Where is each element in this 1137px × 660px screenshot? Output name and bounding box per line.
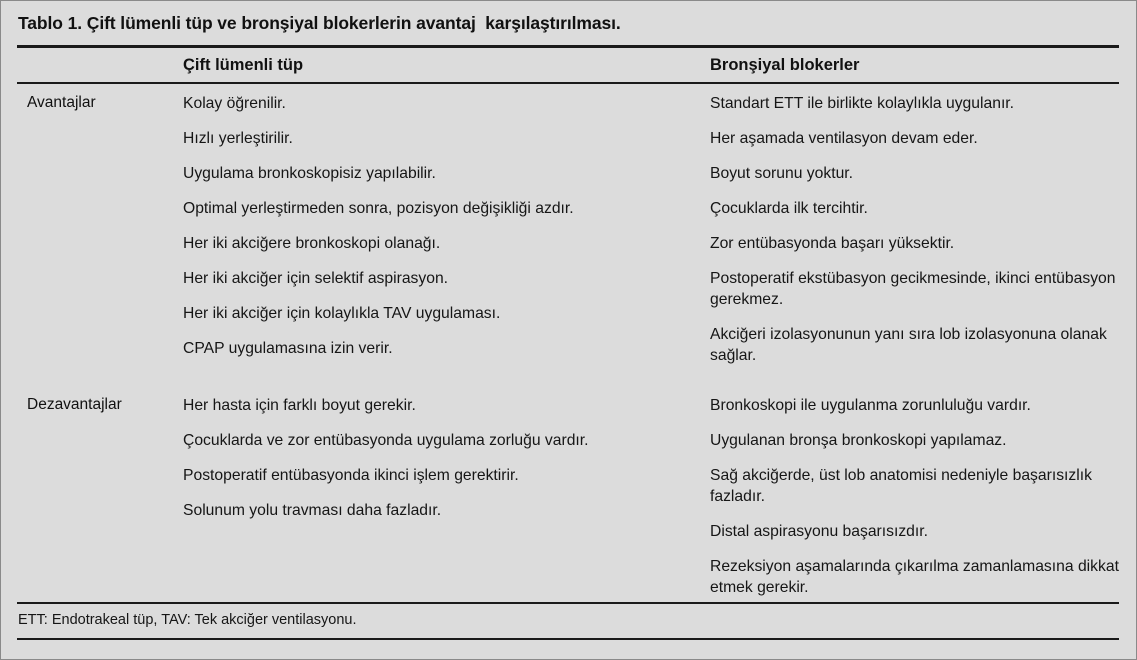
list-item: CPAP uygulamasına izin verir. (183, 338, 693, 359)
column-header-double-lumen-tube: Çift lümenli tüp (183, 48, 303, 82)
rule-above-footnote (17, 602, 1119, 604)
list-item: Her iki akciğere bronkoskopi olanağı. (183, 233, 693, 254)
list-item: Bronkoskopi ile uygulanma zorunluluğu va… (710, 395, 1122, 416)
list-item: Boyut sorunu yoktur. (710, 163, 1122, 184)
list-item: Optimal yerleştirmeden sonra, pozisyon d… (183, 198, 693, 219)
table-footnote: ETT: Endotrakeal tüp, TAV: Tek akciğer v… (18, 609, 357, 631)
table-header-row: Çift lümenli tüp Bronşiyal blokerler (1, 48, 1136, 82)
list-item: Sağ akciğerde, üst lob anatomisi nedeniy… (710, 465, 1122, 507)
list-item: Hızlı yerleştirilir. (183, 128, 693, 149)
list-item: Postoperatif entübasyonda ikinci işlem g… (183, 465, 693, 486)
table-body: Avantajlar Kolay öğrenilir. Hızlı yerleş… (1, 84, 1136, 659)
advantages-double-lumen-tube-list: Kolay öğrenilir. Hızlı yerleştirilir. Uy… (183, 93, 693, 359)
list-item: Her hasta için farklı boyut gerekir. (183, 395, 693, 416)
table-title-text: Tablo 1. Çift lümenli tüp ve bronşiyal b… (18, 13, 621, 34)
advantages-bronchial-blockers-list: Standart ETT ile birlikte kolaylıkla uyg… (710, 93, 1122, 366)
list-item: Rezeksiyon aşamalarında çıkarılma zamanl… (710, 556, 1122, 598)
list-item: Uygulanan bronşa bronkoskopi yapılamaz. (710, 430, 1122, 451)
disadvantages-double-lumen-tube-list: Her hasta için farklı boyut gerekir. Çoc… (183, 395, 693, 521)
list-item: Her aşamada ventilasyon devam eder. (710, 128, 1122, 149)
list-item: Her iki akciğer için selektif aspirasyon… (183, 268, 693, 289)
row-label-advantages: Avantajlar (27, 93, 96, 113)
list-item: Postoperatif ekstübasyon gecikmesinde, i… (710, 268, 1122, 310)
table-title: Tablo 1. Çift lümenli tüp ve bronşiyal b… (1, 1, 1136, 45)
disadvantages-bronchial-blockers-list: Bronkoskopi ile uygulanma zorunluluğu va… (710, 395, 1122, 598)
list-item: Çocuklarda ve zor entübasyonda uygulama … (183, 430, 693, 451)
list-item: Çocuklarda ilk tercihtir. (710, 198, 1122, 219)
list-item: Kolay öğrenilir. (183, 93, 693, 114)
list-item: Her iki akciğer için kolaylıkla TAV uygu… (183, 303, 693, 324)
list-item: Zor entübasyonda başarı yüksektir. (710, 233, 1122, 254)
list-item: Akciğeri izolasyonunun yanı sıra lob izo… (710, 324, 1122, 366)
rule-bottom (17, 638, 1119, 640)
column-header-bronchial-blockers: Bronşiyal blokerler (710, 48, 859, 82)
list-item: Solunum yolu travması daha fazladır. (183, 500, 693, 521)
list-item: Standart ETT ile birlikte kolaylıkla uyg… (710, 93, 1122, 114)
list-item: Distal aspirasyonu başarısızdır. (710, 521, 1122, 542)
row-label-disadvantages: Dezavantajlar (27, 395, 122, 415)
table-figure: Tablo 1. Çift lümenli tüp ve bronşiyal b… (0, 0, 1137, 660)
list-item: Uygulama bronkoskopisiz yapılabilir. (183, 163, 693, 184)
